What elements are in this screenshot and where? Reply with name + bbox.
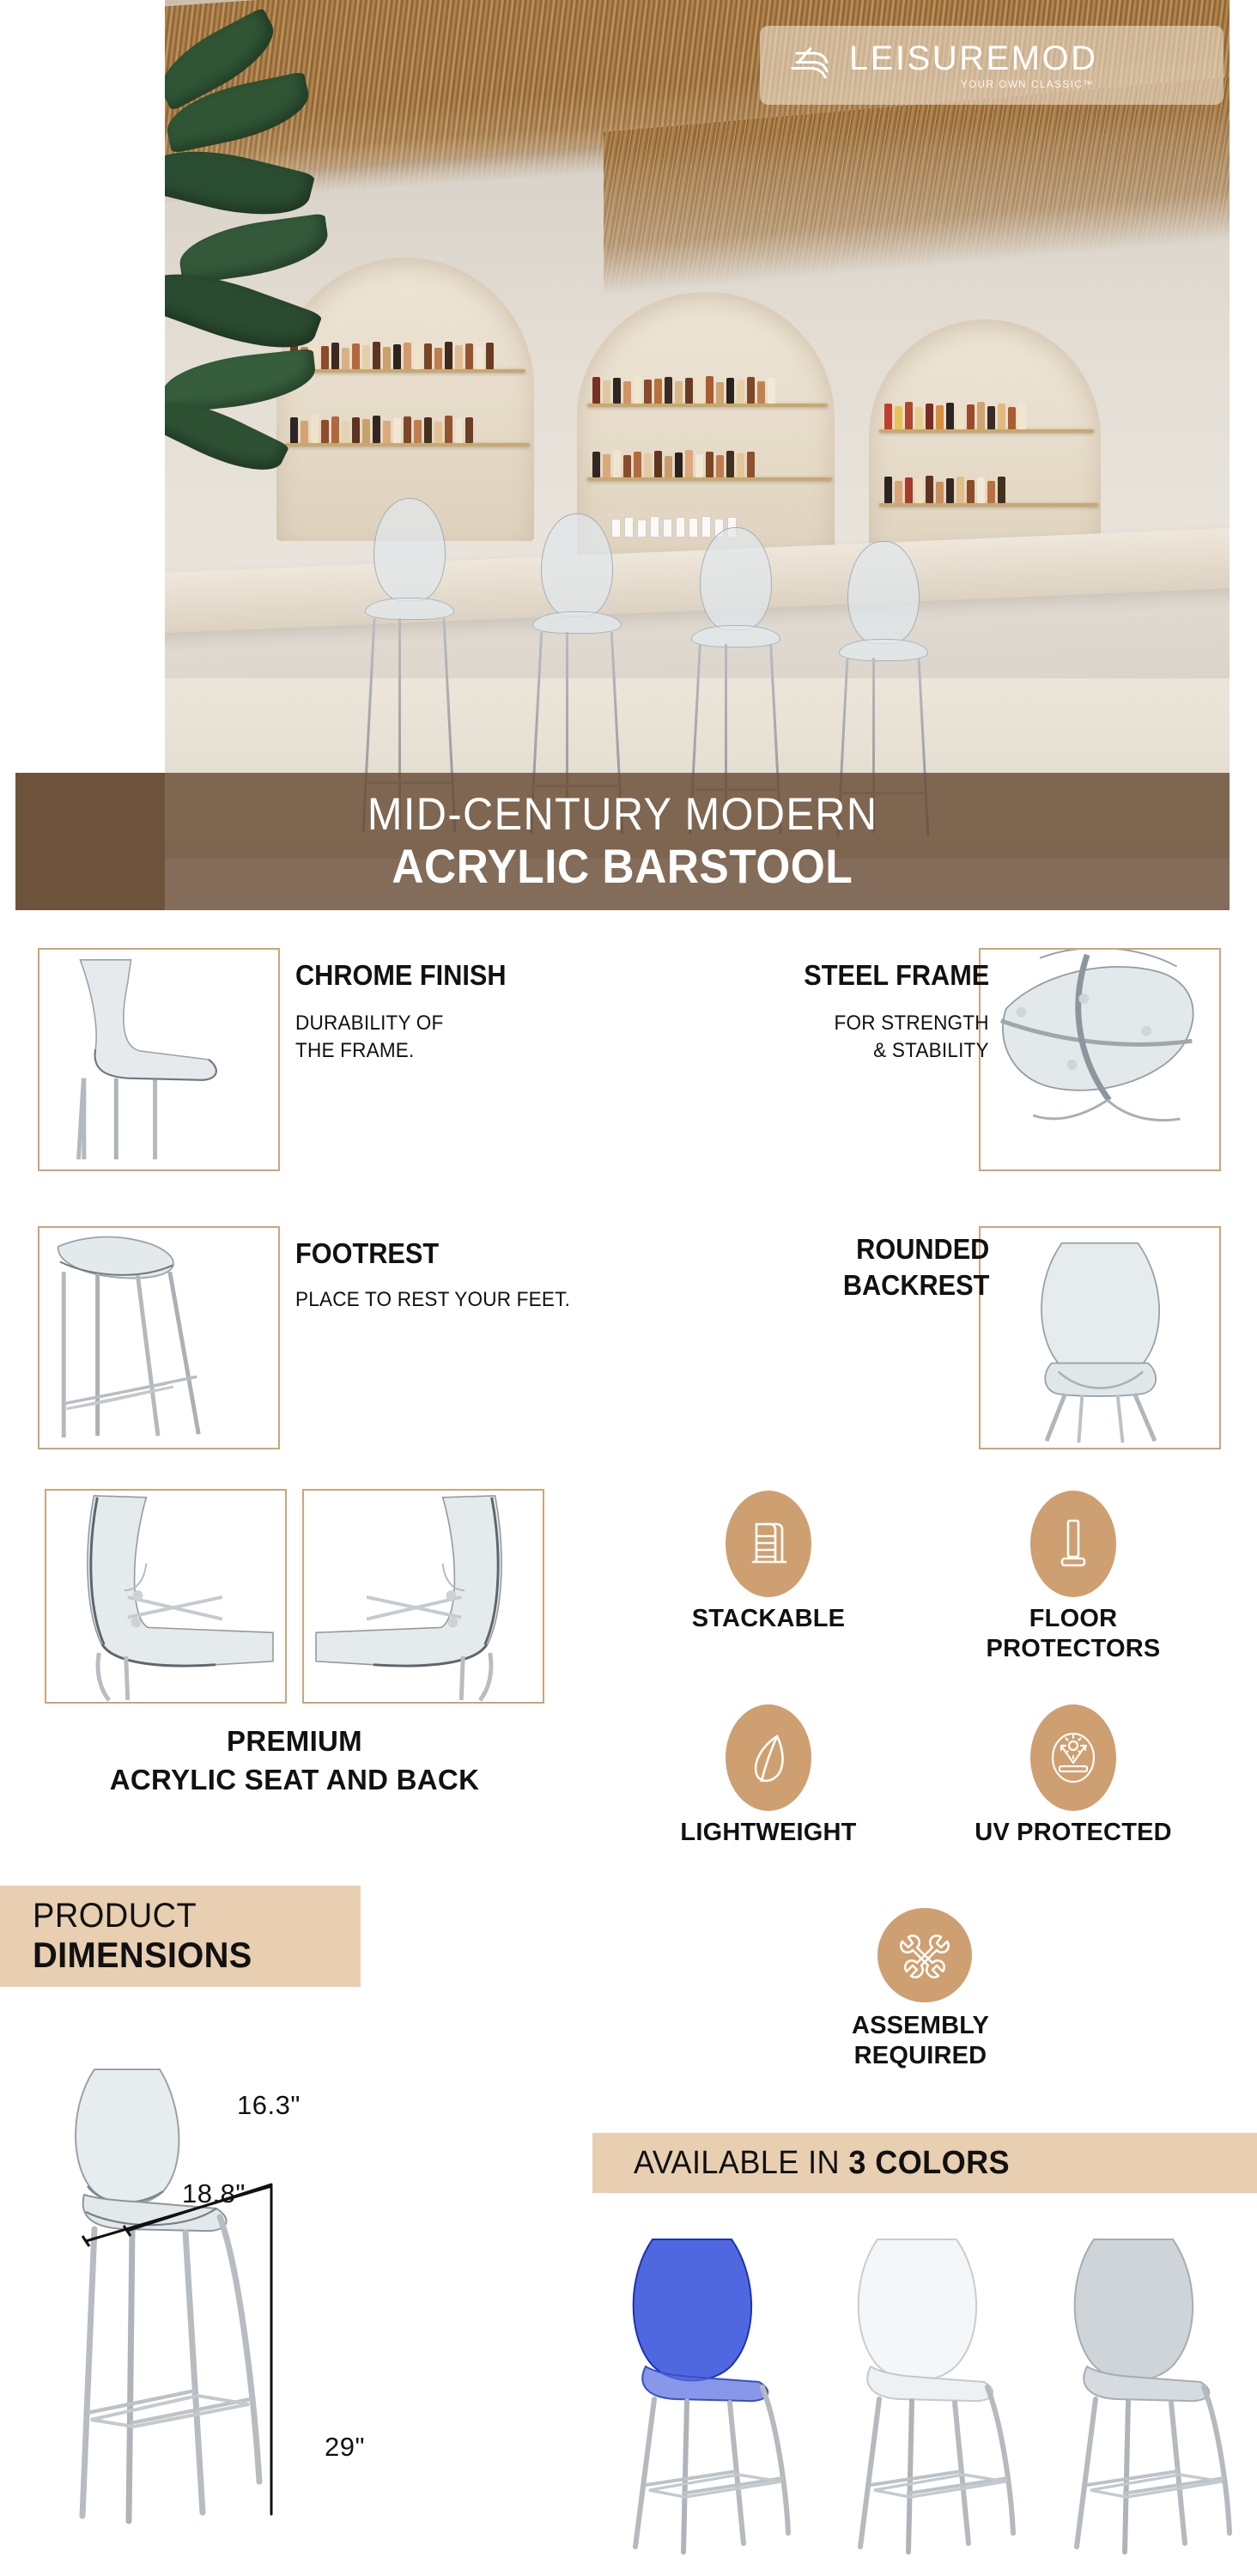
colors-banner-prefix: AVAILABLE IN [634, 2145, 848, 2181]
bottle-shelf-3 [592, 374, 775, 404]
colors-banner: AVAILABLE IN 3 COLORS [592, 2133, 1257, 2193]
feature-desc-chrome-finish: DURABILITY OF THE FRAME. [295, 1010, 444, 1064]
shelf-line [879, 503, 1098, 507]
premium-image-left [45, 1489, 287, 1704]
badge-label-stackable: STACKABLE [627, 1604, 910, 1634]
dimension-diagram [34, 2035, 395, 2559]
logo-wordmark: LEISUREMOD [849, 41, 1098, 76]
feature-title-footrest: FOOTREST [295, 1237, 439, 1270]
feature-title-rounded-backrest: ROUNDED BACKREST [842, 1231, 989, 1303]
premium-caption-line1: PREMIUM [17, 1722, 572, 1761]
badge-assembly-required: ASSEMBLY REQUIRED [877, 1908, 963, 2014]
badge-label-assembly-required: ASSEMBLY REQUIRED [779, 2011, 1062, 2072]
bottle-shelf-6 [884, 474, 1005, 503]
badge-lightweight: LIGHTWEIGHT [726, 1704, 811, 1811]
feature-image-rounded-backrest [979, 1226, 1221, 1449]
feature-title-steel-frame: STEEL FRAME [804, 959, 989, 992]
feature-image-footrest [38, 1226, 280, 1449]
feature-image-chrome-finish [38, 948, 280, 1171]
logo-tagline: YOUR OWN CLASSIC™ [961, 80, 1095, 90]
brand-logo: LEISUREMOD YOUR OWN CLASSIC™ [760, 26, 1224, 105]
dimension-label-height: 29" [325, 2432, 365, 2463]
hero-bar-photo [165, 0, 1230, 859]
crossed-wrenches-icon [898, 1929, 951, 1982]
bottle-shelf-5 [884, 400, 1026, 429]
barstool-underside-frame-illustration [981, 950, 1219, 1170]
colors-banner-emphasis: 3 COLORS [848, 2145, 1010, 2181]
title-banner: MID-CENTURY MODERN ACRYLIC BARSTOOL [15, 773, 1230, 910]
dimensions-banner: PRODUCT DIMENSIONS [0, 1886, 361, 1987]
feature-desc-footrest: PLACE TO REST YOUR FEET. [295, 1286, 570, 1314]
badge-floor-protectors: FLOOR PROTECTORS [1030, 1491, 1116, 1597]
feature-title-chrome-finish: CHROME FINISH [295, 959, 507, 992]
badge-label-lightweight: LIGHTWEIGHT [627, 1818, 910, 1848]
feature-desc-steel-frame: FOR STRENGTH & STABILITY [835, 1010, 989, 1064]
dimensions-banner-line1: PRODUCT [33, 1898, 197, 1935]
premium-image-right [302, 1489, 544, 1704]
lounger-icon [791, 46, 839, 85]
premium-caption: PREMIUM ACRYLIC SEAT AND BACK [17, 1722, 572, 1799]
badge-circle [1030, 1491, 1116, 1597]
uv-sun-shield-icon [1047, 1728, 1099, 1787]
color-option-clear [826, 2221, 1041, 2564]
badge-label-uv-protected: UV PROTECTED [932, 1818, 1215, 1848]
acrylic-seat-closeup-right-illustration [304, 1491, 543, 1702]
stacked-chairs-icon [744, 1516, 792, 1572]
colors-banner-text: AVAILABLE IN 3 COLORS [634, 2145, 1010, 2182]
bottle-shelf-4 [592, 448, 755, 477]
badge-circle [1030, 1704, 1116, 1811]
dimensions-banner-line2: DIMENSIONS [33, 1935, 252, 1975]
barstool-backrest-illustration [981, 1228, 1219, 1448]
dimension-label-width: 18.8" [182, 2178, 246, 2209]
badge-circle [877, 1908, 972, 2002]
acrylic-seat-closeup-left-illustration [46, 1491, 285, 1702]
badge-label-floor-protectors: FLOOR PROTECTORS [932, 1604, 1215, 1665]
premium-caption-line2: ACRYLIC SEAT AND BACK [17, 1761, 572, 1800]
barstool-side-view-illustration [39, 950, 278, 1170]
banner-subtitle: MID-CENTURY MODERN [367, 791, 878, 839]
badge-uv-protected: UV PROTECTED [1030, 1704, 1116, 1811]
infographic-page: LEISUREMOD YOUR OWN CLASSIC™ MID-CENTURY… [0, 0, 1257, 2576]
shelf-line [879, 429, 1094, 433]
feature-image-steel-frame [979, 948, 1221, 1171]
badge-circle [726, 1704, 811, 1811]
logo-text-block: LEISUREMOD YOUR OWN CLASSIC™ [849, 41, 1098, 90]
badge-circle [726, 1491, 811, 1597]
potted-plant [165, 26, 385, 472]
banner-title: ACRYLIC BARSTOOL [392, 841, 853, 892]
floor-protector-leg-icon [1055, 1516, 1091, 1572]
barstool-footrest-illustration [39, 1228, 278, 1448]
shelf-line [587, 477, 832, 481]
color-option-blue [601, 2221, 816, 2564]
color-option-grey [1042, 2221, 1257, 2564]
badge-stackable: STACKABLE [726, 1491, 811, 1597]
feather-leaf-icon [744, 1729, 792, 1786]
dimension-label-depth: 16.3" [237, 2090, 301, 2121]
shelf-line [587, 404, 828, 407]
